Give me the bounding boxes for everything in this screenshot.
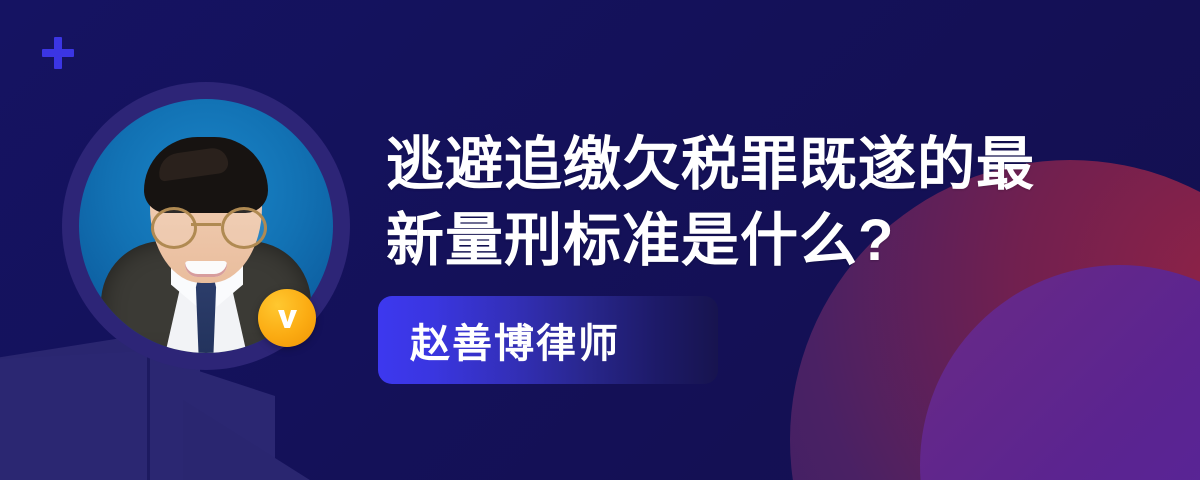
lawyer-qa-banner: 逃避追缴欠税罪既遂的最 新量刑标准是什么? 赵善博律师 [0, 0, 1200, 480]
verified-badge-icon [258, 289, 316, 347]
plus-icon [42, 37, 74, 69]
portrait-glasses-left [151, 207, 197, 249]
portrait-hair [144, 137, 268, 213]
page-title: 逃避追缴欠税罪既遂的最 新量刑标准是什么? [386, 127, 1146, 279]
portrait-glasses-bridge [191, 223, 221, 226]
portrait-mouth [185, 261, 227, 277]
lawyer-name-button[interactable]: 赵善博律师 [378, 296, 718, 384]
portrait-glasses-right [221, 207, 267, 249]
